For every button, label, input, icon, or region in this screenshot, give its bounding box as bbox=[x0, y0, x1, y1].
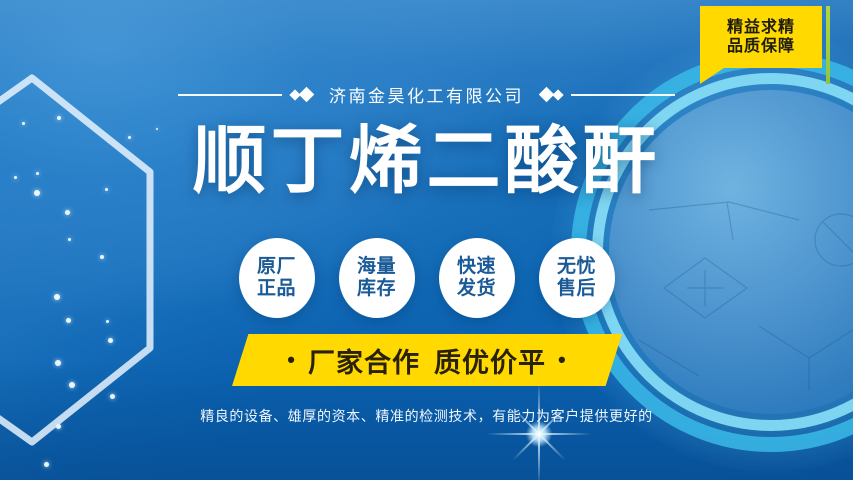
feature-badge-line-2: 正品 bbox=[257, 279, 296, 300]
quality-tag-line-1: 精益求精 bbox=[727, 19, 795, 37]
quality-tag-badge: 精益求精 品质保障 bbox=[700, 6, 822, 68]
feature-badge-line-1: 海量 bbox=[357, 257, 396, 278]
company-name-row: 济南金昊化工有限公司 bbox=[0, 82, 853, 107]
feature-badge-line-1: 原厂 bbox=[257, 257, 296, 278]
slogan-banner: • 厂家合作 质优价平 • bbox=[232, 334, 622, 386]
feature-badge-line-2: 发货 bbox=[457, 279, 496, 300]
product-title: 顺丁烯二酸酐 bbox=[0, 123, 853, 200]
slogan-bullet-left: • bbox=[287, 349, 296, 371]
feature-badge: 无忧 售后 bbox=[539, 238, 615, 318]
feature-badge-line-2: 库存 bbox=[357, 279, 396, 300]
promotional-banner: 精益求精 品质保障 济南金昊化工有限公司 顺丁烯二酸酐 原厂 正品 海量 库存 bbox=[0, 0, 853, 480]
feature-badge: 快速 发货 bbox=[439, 238, 515, 318]
quality-tag-accent-bar bbox=[826, 6, 830, 84]
diamond-large-icon bbox=[299, 87, 315, 103]
rule-left bbox=[178, 94, 282, 96]
rule-right bbox=[571, 94, 675, 96]
feature-badge-line-2: 售后 bbox=[557, 279, 596, 300]
quality-tag-tail bbox=[700, 68, 724, 84]
company-name: 济南金昊化工有限公司 bbox=[321, 82, 532, 107]
diamond-small-icon bbox=[552, 89, 563, 100]
feature-badge-line-1: 无忧 bbox=[557, 257, 596, 278]
feature-badge-line-1: 快速 bbox=[457, 257, 496, 278]
diamond-group-right bbox=[541, 89, 562, 100]
feature-badge: 海量 库存 bbox=[339, 238, 415, 318]
slogan-bullet-right: • bbox=[558, 349, 567, 371]
diamond-group-left bbox=[291, 89, 312, 100]
feature-badges: 原厂 正品 海量 库存 快速 发货 无忧 售后 bbox=[0, 238, 853, 318]
quality-tag-line-2: 品质保障 bbox=[727, 38, 795, 56]
slogan-text-a: 厂家合作 bbox=[306, 341, 422, 380]
feature-badge: 原厂 正品 bbox=[239, 238, 315, 318]
bottom-caption: 精良的设备、雄厚的资本、精准的检测技术，有能力为客户提供更好的 bbox=[0, 406, 853, 426]
slogan-text-b: 质优价平 bbox=[432, 341, 548, 380]
